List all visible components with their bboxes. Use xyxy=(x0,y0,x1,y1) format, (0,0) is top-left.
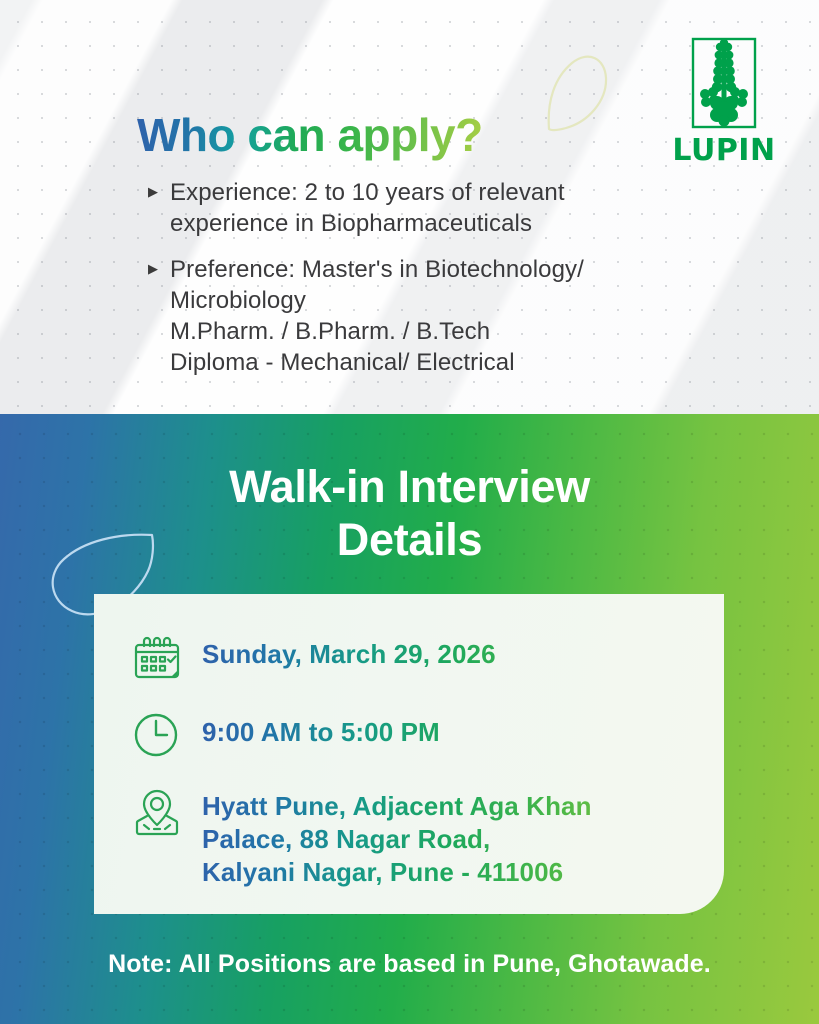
location-pin-icon xyxy=(132,788,184,838)
lupin-logo: LUPIN xyxy=(668,37,780,167)
location-note: Note: All Positions are based in Pune, G… xyxy=(0,950,819,979)
leaf-outline-icon xyxy=(546,52,608,132)
list-item: ▶ Preference: Master's in Biotechnology/… xyxy=(148,255,708,378)
clock-icon xyxy=(132,710,184,760)
section-title: Walk-in Interview Details xyxy=(0,461,819,566)
detail-row-date: Sunday, March 29, 2026 xyxy=(132,634,724,684)
list-item-label: Experience: 2 to 10 years of relevant ex… xyxy=(170,178,708,239)
lupin-wordmark: LUPIN xyxy=(672,133,775,168)
interview-date: Sunday, March 29, 2026 xyxy=(202,634,724,671)
detail-row-location: Hyatt Pune, Adjacent Aga Khan Palace, 88… xyxy=(132,786,724,888)
lupin-flower-icon xyxy=(691,37,757,129)
triangle-bullet-icon: ▶ xyxy=(148,178,170,198)
calendar-icon xyxy=(132,634,184,684)
bottom-section: Walk-in Interview Details xyxy=(0,414,819,1024)
list-item: ▶ Experience: 2 to 10 years of relevant … xyxy=(148,178,708,239)
top-section: Who can apply? ▶ Experience: 2 to 10 yea… xyxy=(0,0,819,414)
interview-time: 9:00 AM to 5:00 PM xyxy=(202,710,724,749)
triangle-bullet-icon: ▶ xyxy=(148,255,170,275)
eligibility-list: ▶ Experience: 2 to 10 years of relevant … xyxy=(148,178,708,394)
list-item-label: Preference: Master's in Biotechnology/ M… xyxy=(170,255,708,378)
detail-row-time: 9:00 AM to 5:00 PM xyxy=(132,710,724,760)
poster: Who can apply? ▶ Experience: 2 to 10 yea… xyxy=(0,0,819,1024)
interview-details-card: Sunday, March 29, 2026 9:00 AM to 5:00 P… xyxy=(94,594,724,914)
interview-address: Hyatt Pune, Adjacent Aga Khan Palace, 88… xyxy=(202,786,724,888)
page-title: Who can apply? xyxy=(137,108,483,162)
